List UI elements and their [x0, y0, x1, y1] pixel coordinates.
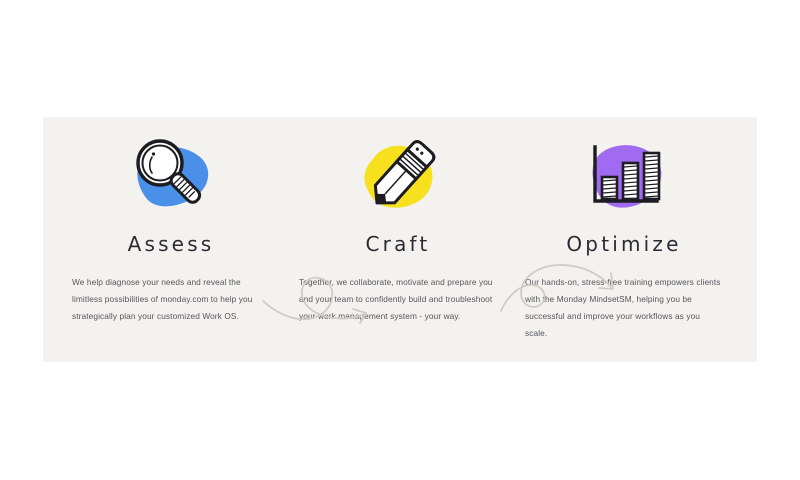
- pencil-icon: [285, 129, 511, 229]
- magnifying-glass-icon: [58, 129, 284, 229]
- step-body-craft: Together, we collaborate, motivate and p…: [299, 274, 497, 325]
- step-card-assess: Assess We help diagnose your needs and r…: [58, 117, 284, 362]
- step-body-assess: We help diagnose your needs and reveal t…: [72, 274, 270, 325]
- bar-chart-icon: [511, 129, 737, 229]
- steps-columns: Assess We help diagnose your needs and r…: [43, 117, 757, 362]
- steps-panel: Assess We help diagnose your needs and r…: [43, 117, 757, 362]
- step-title-optimize: Optimize: [511, 232, 737, 256]
- page-root: Assess We help diagnose your needs and r…: [0, 0, 800, 480]
- step-body-optimize: Our hands-on, stress-free training empow…: [525, 274, 723, 342]
- step-card-optimize: Optimize Our hands-on, stress-free train…: [511, 117, 737, 362]
- step-title-assess: Assess: [58, 232, 284, 256]
- step-card-craft: Craft Together, we collaborate, motivate…: [285, 117, 511, 362]
- step-title-craft: Craft: [285, 232, 511, 256]
